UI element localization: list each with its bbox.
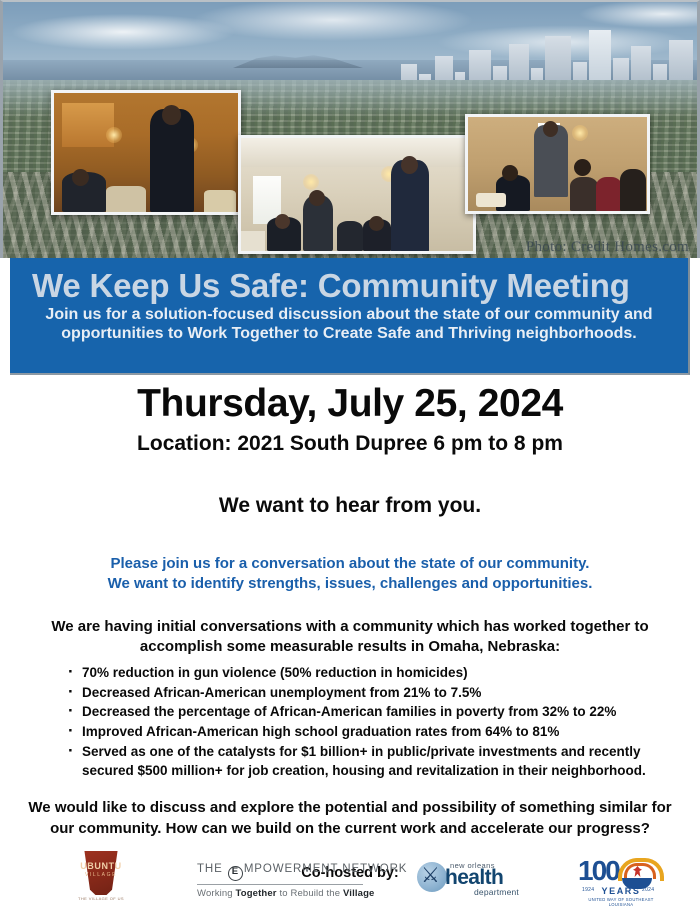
intro-paragraph: We are having initial conversations with… <box>0 617 700 657</box>
empowerment-rest: MPOWERMENT NETWORK <box>244 863 408 875</box>
tagline-b: Together <box>236 888 277 899</box>
event-date: Thursday, July 25, 2024 <box>0 384 700 423</box>
empowerment-network-wordmark: THE EMPOWERMENT NETWORK <box>197 863 365 881</box>
tagline-c: to Rebuild the <box>277 888 343 899</box>
photo-credit-text: Photo: Credit Homes.com <box>526 239 689 256</box>
empowerment-e-icon: E <box>228 866 243 881</box>
call-to-action: We want to hear from you. <box>0 494 700 518</box>
invitation-line-1: Please join us for a conversation about … <box>0 554 700 574</box>
tagline-a: Working <box>197 888 236 899</box>
list-item: Improved African-American high school gr… <box>68 722 690 742</box>
invitation-line-2: We want to identify strengths, issues, c… <box>0 574 700 594</box>
empowerment-network-tagline: Working Together to Rebuild the Village <box>197 888 365 899</box>
list-item: Decreased the percentage of African-Amer… <box>68 702 690 722</box>
flyer-page: Photo: Credit Homes.com We Keep Us Safe:… <box>0 0 700 911</box>
cohost-logo-row: UBUNTU VILLAGE THE VILLAGE OF US THE EMP… <box>0 845 700 911</box>
health-logo-subtext: department <box>474 887 519 897</box>
centennial-number: 100 <box>578 855 619 887</box>
results-list: 70% reduction in gun violence (50% reduc… <box>0 663 700 781</box>
event-location-time: Location: 2021 South Dupree 6 pm to 8 pm <box>0 432 700 456</box>
invitation-paragraph: Please join us for a conversation about … <box>0 554 700 595</box>
list-item: Served as one of the catalysts for $1 bi… <box>68 742 690 781</box>
list-item: 70% reduction in gun violence (50% reduc… <box>68 663 690 683</box>
banner-subtitle-line-1: Join us for a solution-focused discussio… <box>24 305 674 325</box>
empowerment-the: THE <box>197 863 223 875</box>
new-orleans-health-department-logo: ⚔ new orleans health department <box>417 858 529 898</box>
ubuntu-village-logo: UBUNTU VILLAGE THE VILLAGE OF US <box>72 849 130 907</box>
inset-photo-speaker-right <box>465 114 650 214</box>
title-banner: We Keep Us Safe: Community Meeting Join … <box>10 258 690 375</box>
centennial-inner-arc-icon <box>624 863 656 879</box>
closing-paragraph: We would like to discuss and explore the… <box>0 798 700 839</box>
tagline-d: Village <box>343 888 375 899</box>
hero-photo-collage: Photo: Credit Homes.com <box>0 0 700 258</box>
centennial-org-label: UNITED WAY OF SOUTHEAST LOUISIANA <box>580 897 662 907</box>
fleur-de-lis-icon: ⚔ <box>421 865 440 886</box>
flyer-body: Thursday, July 25, 2024 Location: 2021 S… <box>0 378 700 881</box>
empowerment-network-logo: THE EMPOWERMENT NETWORK Working Together… <box>197 863 365 895</box>
ubuntu-logo-subname: VILLAGE <box>72 872 130 878</box>
centennial-100-years-logo: 100 1924 2024 YEARS UNITED WAY OF SOUTHE… <box>578 855 664 901</box>
banner-subtitle-line-2: opportunities to Work Together to Create… <box>24 324 674 344</box>
centennial-band: YEARS UNITED WAY OF SOUTHEAST LOUISIANA <box>580 886 662 907</box>
ubuntu-logo-tagline: THE VILLAGE OF US <box>72 896 130 901</box>
inset-photo-meeting-center <box>238 135 476 254</box>
list-item: Decreased African-American unemployment … <box>68 683 690 703</box>
banner-title: We Keep Us Safe: Community Meeting <box>32 269 674 303</box>
centennial-years-label: YEARS <box>580 886 662 896</box>
inset-photo-speaker-left <box>51 90 241 215</box>
ubuntu-logo-wordmark: UBUNTU <box>72 861 130 871</box>
logo-divider <box>197 884 363 885</box>
